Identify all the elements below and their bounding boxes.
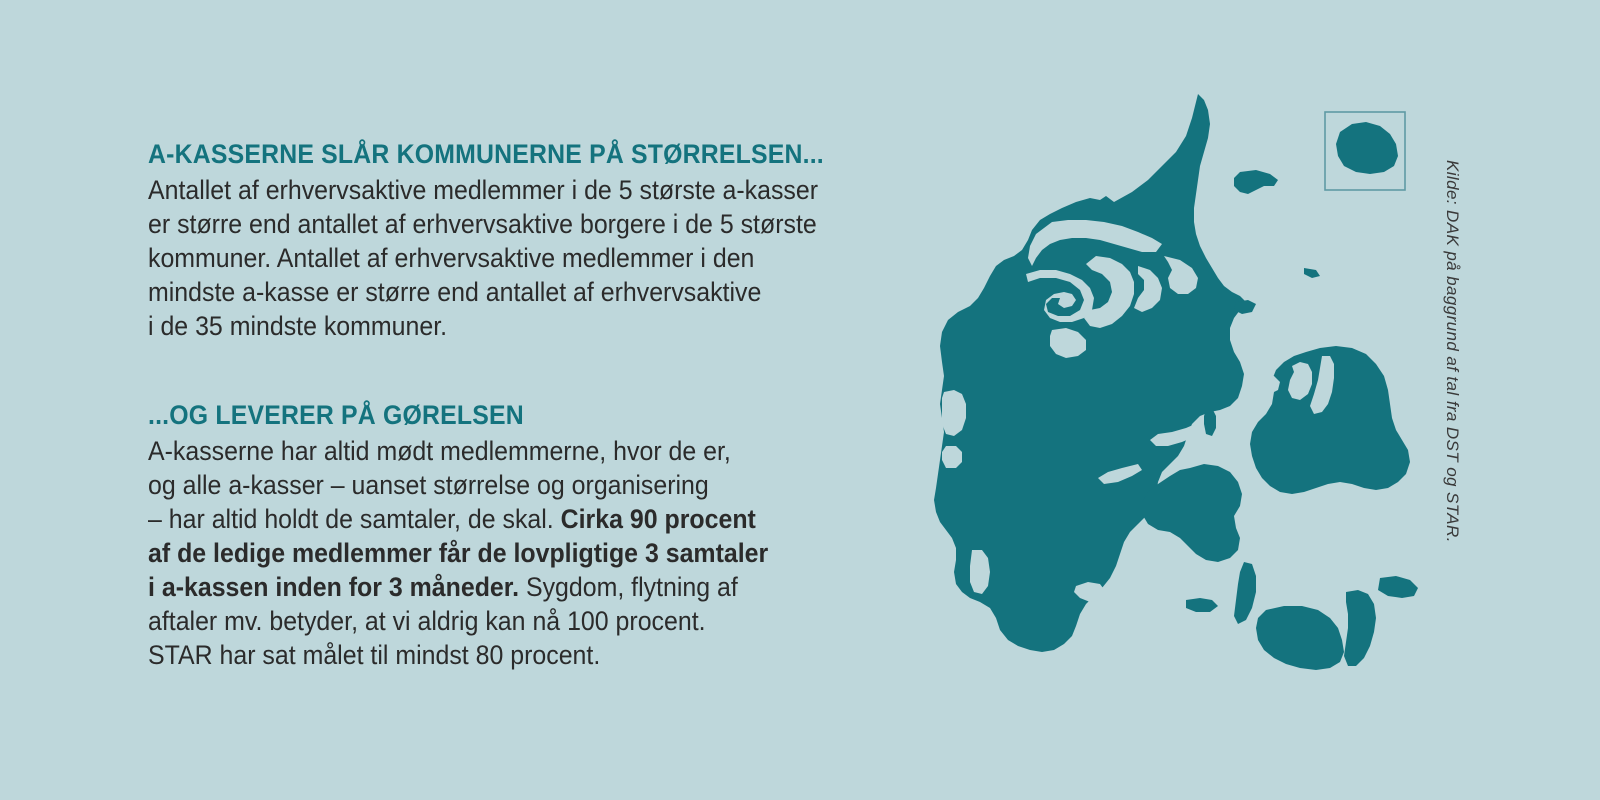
body-line: kommuner. Antallet af erhvervsaktive med… [148, 241, 862, 275]
body-line-mixed: i a-kassen inden for 3 måneder. Sygdom, … [148, 570, 862, 604]
text-block-delivery: ...OG LEVERER PÅ GØRELSEN A-kasserne har… [148, 401, 908, 672]
heading-og-leverer-paa-goerelsen: ...OG LEVERER PÅ GØRELSEN [148, 401, 847, 430]
text-block-size: A-KASSERNE SLÅR KOMMUNERNE PÅ STØRRELSEN… [148, 140, 908, 343]
laesoe-island [1234, 170, 1278, 194]
infographic-root: A-KASSERNE SLÅR KOMMUNERNE PÅ STØRRELSEN… [0, 0, 1600, 800]
body-line: i de 35 mindste kommuner. [148, 309, 862, 343]
body-line-regular: – har altid holdt de samtaler, de skal. [148, 504, 561, 534]
lolland-island [1256, 606, 1344, 670]
body-emphasis-start: Cirka 90 procent [561, 504, 756, 534]
body-paragraph-size: Antallet af erhvervsaktive medlemmer i d… [148, 173, 862, 343]
falster-island [1344, 590, 1376, 666]
aeroe-island [1186, 598, 1218, 612]
body-line: STAR har sat målet til mindst 80 procent… [148, 638, 862, 672]
body-line: aftaler mv. betyder, at vi aldrig kan nå… [148, 604, 862, 638]
heading-a-kasserne-slaar-kommunerne: A-KASSERNE SLÅR KOMMUNERNE PÅ STØRRELSEN… [148, 140, 847, 169]
body-line-bold: af de ledige medlemmer får de lovpligtig… [148, 536, 862, 570]
denmark-map [900, 80, 1460, 700]
body-paragraph-delivery: A-kasserne har altid mødt medlemmerne, h… [148, 434, 862, 672]
denmark-map-svg [900, 80, 1460, 700]
body-line-mixed: – har altid holdt de samtaler, de skal. … [148, 502, 862, 536]
body-line: mindste a-kasse er større end antallet a… [148, 275, 862, 309]
langeland-island [1234, 562, 1256, 624]
body-line: er større end antallet af erhvervsaktive… [148, 207, 862, 241]
source-caption: Kilde: DAK på baggrund af tal fra DST og… [1442, 160, 1462, 620]
samsoe-island [1204, 408, 1216, 436]
west-coast-lagoon-2 [942, 446, 962, 468]
body-line: og alle a-kasser – uanset størrelse og o… [148, 468, 862, 502]
text-panel: A-KASSERNE SLÅR KOMMUNERNE PÅ STØRRELSEN… [148, 140, 908, 672]
moen-island [1378, 576, 1418, 598]
body-line-regular: Sygdom, flytning af [519, 572, 738, 602]
bornholm-island [1336, 122, 1398, 174]
body-line: Antallet af erhvervsaktive medlemmer i d… [148, 173, 862, 207]
anholt-island [1304, 268, 1320, 278]
body-emphasis-end: i a-kassen inden for 3 måneder. [148, 572, 519, 602]
body-line: A-kasserne har altid mødt medlemmerne, h… [148, 434, 862, 468]
